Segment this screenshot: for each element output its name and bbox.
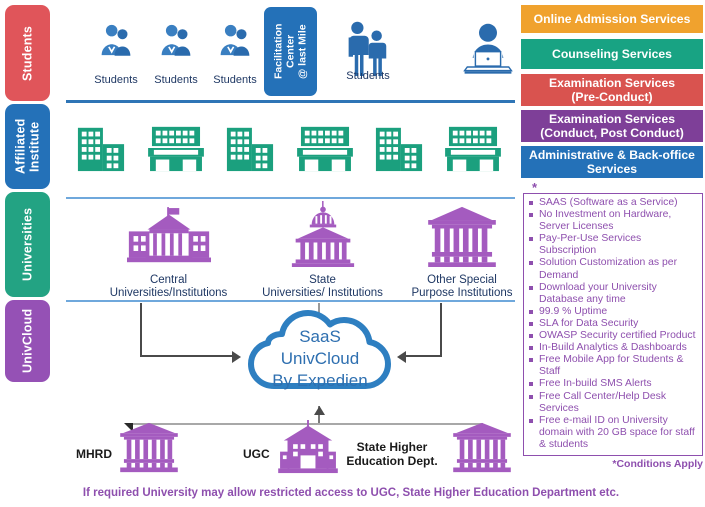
bullet-icon <box>529 201 533 205</box>
section-divider-universities <box>66 300 515 302</box>
student-group-1: Students <box>84 22 148 86</box>
service-administrative-backoffice[interactable]: Administrative & Back-officeServices <box>521 146 703 178</box>
institute-building-icon <box>76 123 126 178</box>
student-group-2-label: Students <box>144 74 208 86</box>
feature-item: Free In-build SMS Alerts <box>528 378 698 390</box>
feature-item: SAAS (Software as a Service) <box>528 197 698 209</box>
institute-building-icon <box>225 123 275 178</box>
cloud-label: SaaS UnivCloud By Expedien <box>232 326 408 392</box>
university-state: StateUniversities/ Institutions <box>250 201 395 300</box>
feature-item: Pay-Per-Use Services Subscription <box>528 233 698 257</box>
bullet-icon <box>529 322 533 326</box>
service-examination-pre-conduct[interactable]: Examination Services(Pre-Conduct) <box>521 74 703 106</box>
sidebar-tab-universities-label: Universities <box>21 208 35 281</box>
institute-building-icon <box>148 123 204 178</box>
feature-item: SLA for Data Security <box>528 318 698 330</box>
section-divider-students <box>66 100 515 103</box>
connector-right-horizontal <box>402 355 442 357</box>
mhrd-label: MHRD <box>76 447 112 461</box>
student-family-label: Students <box>333 70 403 82</box>
feature-item: In-Build Analytics & Dashboards <box>528 342 698 354</box>
feature-item: 99.9 % Uptime <box>528 306 698 318</box>
university-other-special-label: Other SpecialPurpose Institutions <box>397 274 527 300</box>
student-group-1-label: Students <box>84 74 148 86</box>
sidebar-tab-univcloud-label: UnivCloud <box>21 309 35 373</box>
sidebar-tab-students-label: Students <box>21 25 35 80</box>
mhrd-building-icon <box>115 422 183 479</box>
features-list: SAAS (Software as a Service) No Investme… <box>523 193 703 456</box>
feature-item: Download your University Database any ti… <box>528 282 698 306</box>
ugc-label: UGC <box>243 447 270 461</box>
bullet-icon <box>529 382 533 386</box>
connector-left-vertical <box>140 303 142 355</box>
service-counseling[interactable]: Counseling Services <box>521 39 703 69</box>
service-counseling-label: Counseling Services <box>552 47 672 61</box>
bullet-icon <box>529 346 533 350</box>
feature-item: OWASP Security certified Product <box>528 330 698 342</box>
institute-building-icon <box>297 123 353 178</box>
sidebar-tab-students[interactable]: Students <box>5 5 50 101</box>
service-examination-conduct-label: Examination Services(Conduct, Post Condu… <box>540 112 684 140</box>
university-state-label: StateUniversities/ Institutions <box>250 274 395 300</box>
bullet-icon <box>529 395 533 399</box>
university-central: CentralUniversities/Institutions <box>96 207 241 300</box>
sidebar-tab-univcloud[interactable]: UnivCloud <box>5 300 50 382</box>
feature-item: Free Mobile App for Students & Staff <box>528 354 698 378</box>
sidebar-tab-universities[interactable]: Universities <box>5 192 50 297</box>
university-central-label: CentralUniversities/Institutions <box>96 274 241 300</box>
saas-cloud: SaaS UnivCloud By Expedien <box>232 306 408 406</box>
sidebar-tab-affiliated-institute-label: Affiliated Institute <box>14 104 42 189</box>
sidebar-tab-affiliated-institute[interactable]: Affiliated Institute <box>5 104 50 189</box>
state-university-icon <box>288 201 358 267</box>
connector-left-horizontal <box>140 355 238 357</box>
family-students-icon <box>336 20 398 76</box>
ugc-building-icon <box>277 420 339 479</box>
students-icon <box>93 22 139 68</box>
central-university-icon <box>127 207 211 267</box>
students-icon <box>153 22 199 68</box>
institute-building-icon <box>445 123 501 178</box>
facilitation-center-label: Facilitation Center@ last Mile <box>273 7 309 96</box>
connector-right-vertical <box>440 303 442 355</box>
bullet-icon <box>529 310 533 314</box>
student-group-3-label: Students <box>203 74 267 86</box>
bullet-icon <box>529 419 533 423</box>
footer-note: If required University may allow restric… <box>66 487 636 499</box>
students-icon <box>212 22 258 68</box>
feature-item: Free Call Center/Help Desk Services <box>528 391 698 415</box>
feature-item: No Investment on Hardware, Server Licens… <box>528 209 698 233</box>
state-dept-label: State HigherEducation Dept. <box>337 440 447 468</box>
student-group-3: Students <box>203 22 267 86</box>
service-examination-conduct[interactable]: Examination Services(Conduct, Post Condu… <box>521 110 703 142</box>
bullet-icon <box>529 358 533 362</box>
bullet-icon <box>529 261 533 265</box>
service-administrative-backoffice-label: Administrative & Back-officeServices <box>529 148 695 176</box>
service-online-admission[interactable]: Online Admission Services <box>521 5 703 33</box>
feature-item: Free e-mail ID on University domain with… <box>528 415 698 451</box>
bullet-icon <box>529 237 533 241</box>
conditions-apply-note: *Conditions Apply <box>523 458 703 470</box>
bullet-icon <box>529 334 533 338</box>
student-laptop-icon-wrap <box>459 22 517 81</box>
institute-building-icon <box>374 123 424 178</box>
special-institution-icon <box>420 205 504 267</box>
state-dept-building-icon <box>448 422 516 479</box>
service-online-admission-label: Online Admission Services <box>534 12 691 26</box>
bullet-icon <box>529 286 533 290</box>
service-examination-pre-conduct-label: Examination Services(Pre-Conduct) <box>549 76 675 104</box>
facilitation-center-tab[interactable]: Facilitation Center@ last Mile <box>264 7 317 96</box>
feature-item: Solution Customization as per Demand <box>528 257 698 281</box>
student-group-2: Students <box>144 22 208 86</box>
university-other-special: Other SpecialPurpose Institutions <box>397 205 527 300</box>
connector-cloud-bottom-arrow <box>314 402 325 420</box>
bullet-icon <box>529 213 533 217</box>
student-with-laptop-icon <box>459 22 517 76</box>
section-divider-affiliated <box>66 197 515 199</box>
